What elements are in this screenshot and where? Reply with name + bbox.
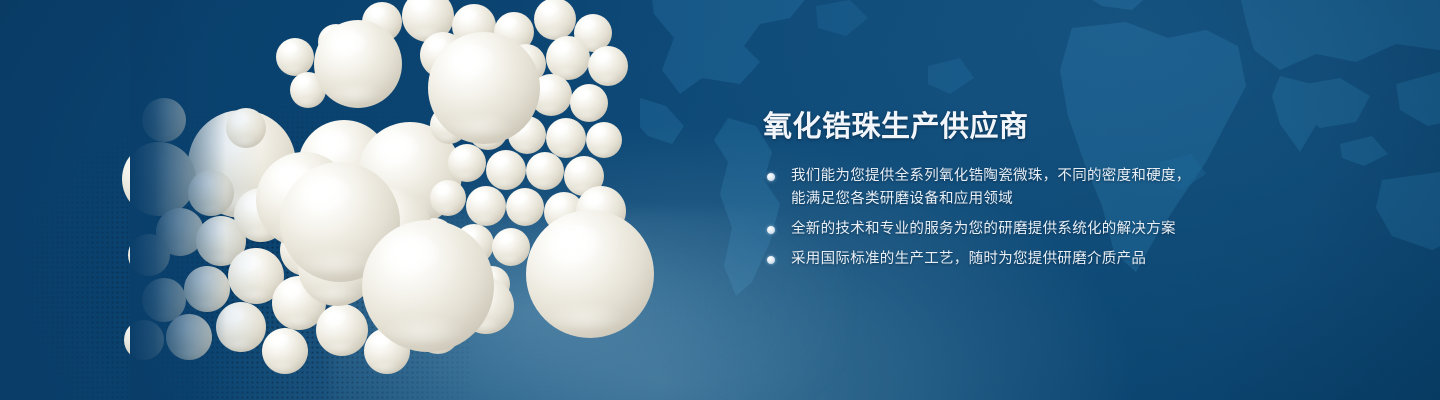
bullet-dot-icon: [767, 173, 775, 181]
hero-banner: 氧化锆珠生产供应商 我们能为您提供全系列氧化锆陶瓷微珠，不同的密度和硬度， 能满…: [0, 0, 1440, 400]
bullet-dot-icon: [767, 226, 775, 234]
feature-line: 我们能为您提供全系列氧化锆陶瓷微珠，不同的密度和硬度，: [791, 165, 1323, 188]
bullet-dot-icon: [767, 256, 775, 264]
page-title: 氧化锆珠生产供应商: [763, 106, 1323, 146]
feature-line: 全新的技术和专业的服务为您的研磨提供系统化的解决方案: [791, 218, 1323, 241]
list-item: 采用国际标准的生产工艺，随时为您提供研磨介质产品: [763, 248, 1323, 271]
feature-line: 采用国际标准的生产工艺，随时为您提供研磨介质产品: [791, 248, 1323, 271]
feature-line: 能满足您各类研磨设备和应用领域: [791, 188, 1323, 211]
feature-list: 我们能为您提供全系列氧化锆陶瓷微珠，不同的密度和硬度， 能满足您各类研磨设备和应…: [763, 165, 1323, 271]
list-item: 全新的技术和专业的服务为您的研磨提供系统化的解决方案: [763, 218, 1323, 241]
banner-copy: 氧化锆珠生产供应商 我们能为您提供全系列氧化锆陶瓷微珠，不同的密度和硬度， 能满…: [763, 106, 1323, 278]
list-item: 我们能为您提供全系列氧化锆陶瓷微珠，不同的密度和硬度， 能满足您各类研磨设备和应…: [763, 165, 1323, 211]
